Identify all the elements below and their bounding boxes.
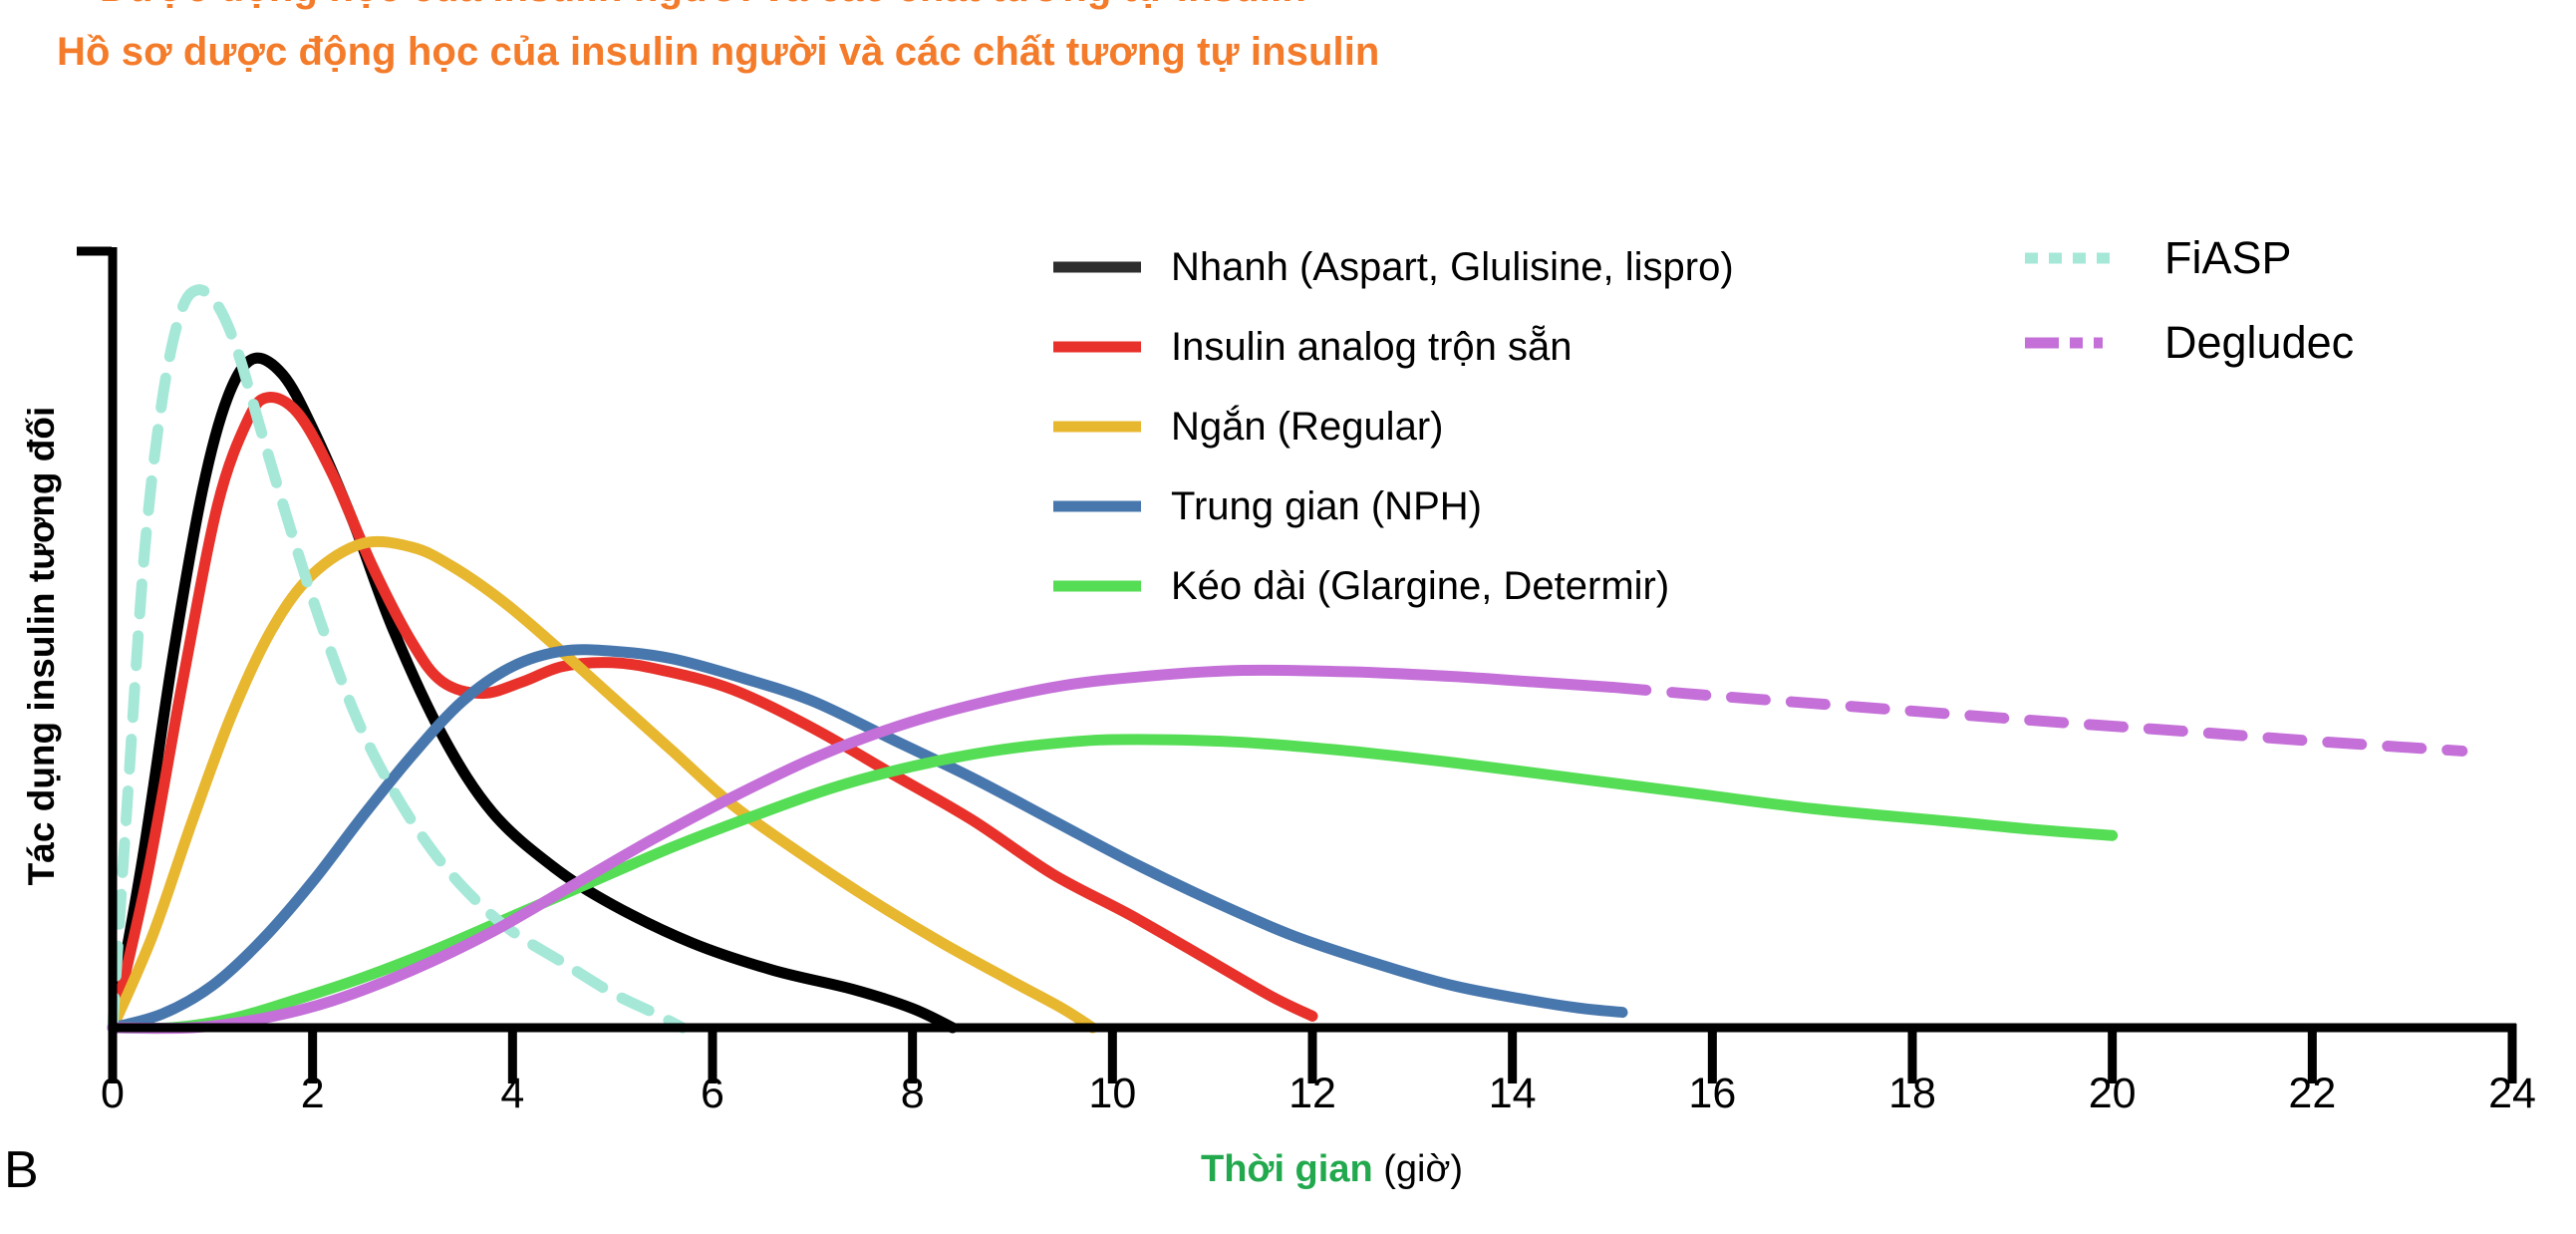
x-tick-label-24: 24	[2488, 1070, 2536, 1118]
x-tick-label-6: 6	[701, 1070, 724, 1118]
legend-label-short: Ngắn (Regular)	[1171, 407, 1443, 447]
legend-swatch-premixed	[1051, 330, 1143, 364]
legend-item-fiasp[interactable]: FiASP	[2023, 215, 2354, 300]
x-tick-label-12: 12	[1288, 1070, 1336, 1118]
legend-label-rapid: Nhanh (Aspart, Glulisine, lispro)	[1171, 247, 1734, 287]
x-tick-label-4: 4	[500, 1070, 524, 1118]
legend-item-premixed[interactable]: Insulin analog trộn sẵn	[1051, 307, 1734, 387]
legend-swatch-long	[1051, 569, 1143, 603]
x-tick-label-10: 10	[1088, 1070, 1136, 1118]
x-tick-label-14: 14	[1489, 1070, 1537, 1118]
legend-label-premixed: Insulin analog trộn sẵn	[1171, 327, 1573, 367]
legend-item-long[interactable]: Kéo dài (Glargine, Determir)	[1051, 546, 1734, 626]
legend-item-short[interactable]: Ngắn (Regular)	[1051, 387, 1734, 466]
legend-swatch-rapid	[1051, 250, 1143, 284]
x-axis-label-unit: (giờ)	[1383, 1148, 1463, 1190]
panel-letter: B	[4, 1144, 39, 1196]
legend-label-long: Kéo dài (Glargine, Determir)	[1171, 566, 1669, 606]
legend-label-degludec: Degludec	[2164, 320, 2354, 365]
x-tick-label-16: 16	[1688, 1070, 1736, 1118]
legend-item-rapid[interactable]: Nhanh (Aspart, Glulisine, lispro)	[1051, 227, 1734, 307]
curve-degludec-dashed	[1612, 687, 2462, 751]
x-tick-label-18: 18	[1888, 1070, 1936, 1118]
legend-swatch-intermediate	[1051, 489, 1143, 523]
legend-swatch-fiasp	[2023, 241, 2115, 275]
x-tick-label-22: 22	[2288, 1070, 2336, 1118]
legend-item-intermediate[interactable]: Trung gian (NPH)	[1051, 466, 1734, 546]
x-axis-label: Thời gian (giờ)	[1201, 1148, 1463, 1191]
curve-trung-gian-nph	[113, 650, 1622, 1028]
legend-swatch-short	[1051, 410, 1143, 444]
legend-item-degludec[interactable]: Degludec	[2023, 300, 2354, 385]
x-tick-label-20: 20	[2089, 1070, 2137, 1118]
legend-secondary: FiASPDegludec	[2023, 215, 2354, 385]
curve-ng-n-regular	[113, 541, 1092, 1028]
x-tick-label-8: 8	[901, 1070, 925, 1118]
chart-figure: Dược động học của insulin người và các c…	[0, 0, 2576, 1234]
legend-label-intermediate: Trung gian (NPH)	[1171, 486, 1482, 526]
x-axis-label-main: Thời gian	[1201, 1148, 1373, 1190]
curve-k-o-d-i-glargine-determir	[113, 740, 2113, 1029]
legend-primary: Nhanh (Aspart, Glulisine, lispro)Insulin…	[1051, 227, 1734, 626]
x-tick-label-2: 2	[301, 1070, 325, 1118]
x-tick-label-0: 0	[101, 1070, 125, 1118]
legend-swatch-degludec	[2023, 326, 2115, 360]
legend-label-fiasp: FiASP	[2164, 235, 2292, 280]
